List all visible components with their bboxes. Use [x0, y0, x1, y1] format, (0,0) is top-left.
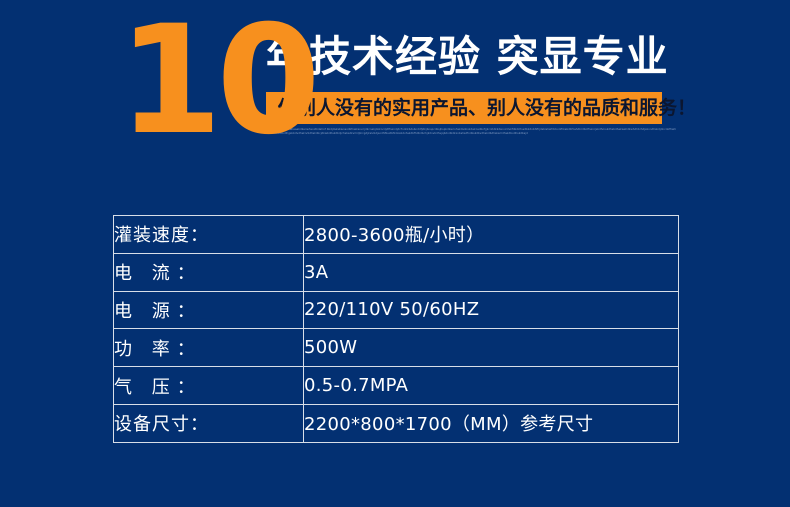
spec-label-cell: 电 源： — [114, 291, 304, 329]
spec-value-cell: 2200*800*1700（MM）参考尺寸 — [304, 404, 679, 442]
table-row: 气 压：0.5-0.7MPA — [114, 367, 679, 405]
spec-value-cell: 3A — [304, 253, 679, 291]
table-row: 功 率：500W — [114, 329, 679, 367]
spec-label-cell: 灌装速度： — [114, 216, 304, 254]
spec-value-cell: 220/110V 50/60HZ — [304, 291, 679, 329]
table-row: 设备尺寸：2200*800*1700（MM）参考尺寸 — [114, 404, 679, 442]
table-row: 灌装速度：2800-3600瓶/小时） — [114, 216, 679, 254]
decorative-microtext: Onsiddddkonsiddeheaekdkenwhsoidkdehof bb… — [266, 128, 676, 137]
specification-table-body: 灌装速度：2800-3600瓶/小时）电 流：3A电 源：220/110V 50… — [114, 216, 679, 443]
table-row: 电 流：3A — [114, 253, 679, 291]
spec-label-cell: 设备尺寸： — [114, 404, 304, 442]
headline-text: 年技术经验 突显专业 — [266, 31, 669, 83]
years-number: 10 — [118, 6, 315, 156]
specification-table: 灌装速度：2800-3600瓶/小时）电 流：3A电 源：220/110V 50… — [113, 215, 679, 443]
subtitle-text: 做别人没有的实用产品、别人没有的品质和服务！ — [278, 96, 696, 120]
table-row: 电 源：220/110V 50/60HZ — [114, 291, 679, 329]
promo-banner: 10 年技术经验 突显专业 做别人没有的实用产品、别人没有的品质和服务！ Ons… — [0, 0, 790, 170]
spec-value-cell: 500W — [304, 329, 679, 367]
spec-value-cell: 2800-3600瓶/小时） — [304, 216, 679, 254]
spec-value-cell: 0.5-0.7MPA — [304, 367, 679, 405]
spec-label-cell: 功 率： — [114, 329, 304, 367]
spec-label-cell: 电 流： — [114, 253, 304, 291]
spec-label-cell: 气 压： — [114, 367, 304, 405]
